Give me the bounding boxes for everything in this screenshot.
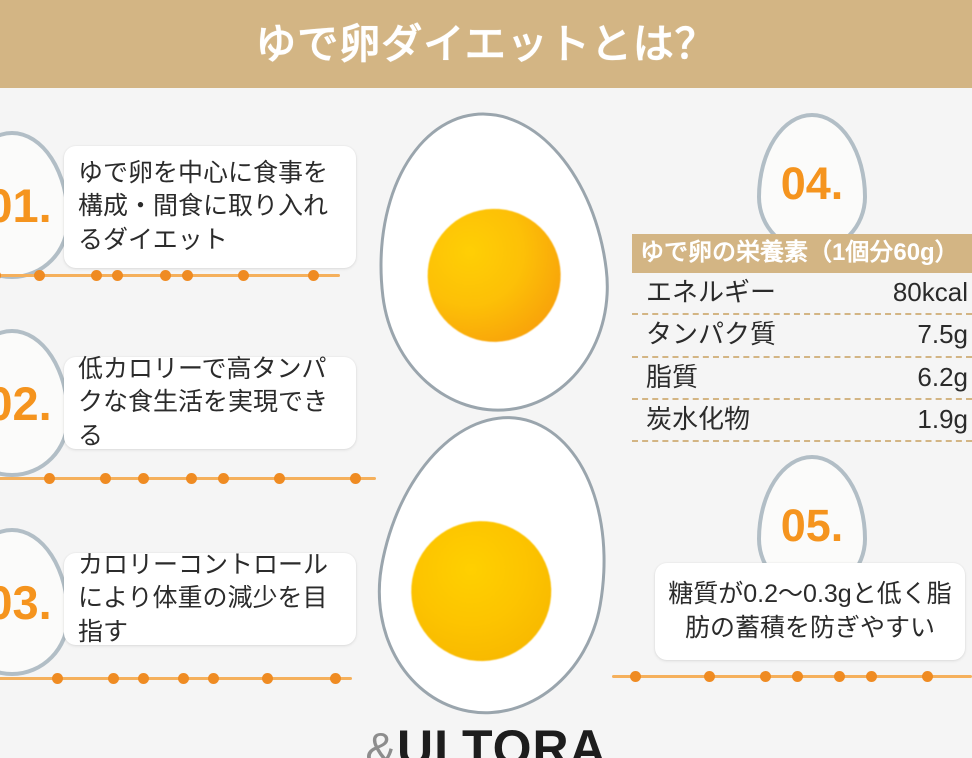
point-card-01: ゆで卵を中心に食事を構成・間食に取り入れるダイエット [64, 146, 356, 268]
divider-dot [91, 270, 102, 281]
divider-dot [834, 671, 845, 682]
nutrient-label: 炭水化物 [646, 403, 750, 436]
divider-dot [44, 473, 55, 484]
nutrition-table: ゆで卵の栄養素（1個分60g） エネルギー 80kcal タンパク質 7.5g … [632, 234, 972, 442]
point-number-02: 02. [0, 380, 52, 427]
divider-line-03 [0, 670, 352, 686]
divider-dot [100, 473, 111, 484]
nutrient-label: 脂質 [646, 361, 698, 394]
divider-dot [186, 473, 197, 484]
point-number-01: 01. [0, 182, 52, 229]
table-row: 脂質 6.2g [632, 358, 972, 400]
divider-dot [704, 671, 715, 682]
boiled-egg-illustration-bottom [358, 398, 632, 733]
divider-dot [218, 473, 229, 484]
point-text-01: ゆで卵を中心に食事を構成・間食に取り入れるダイエット [78, 157, 342, 257]
divider-line-05 [612, 668, 972, 684]
divider-dot [182, 270, 193, 281]
divider-dot [922, 671, 933, 682]
divider-dot [108, 673, 119, 684]
divider-dot [866, 671, 877, 682]
point-number-05: 05. [781, 503, 844, 548]
divider-dot [112, 270, 123, 281]
table-row: タンパク質 7.5g [632, 315, 972, 357]
divider-dot [208, 673, 219, 684]
table-row: エネルギー 80kcal [632, 273, 972, 315]
point-text-02: 低カロリーで高タンパクな食生活を実現できる [78, 353, 342, 453]
page-title: ゆで卵ダイエットとは？ [255, 24, 717, 65]
nutrition-table-title: ゆで卵の栄養素（1個分60g） [632, 234, 972, 273]
divider-dot [760, 671, 771, 682]
point-text-03: カロリーコントロールにより体重の減少を目指す [78, 549, 342, 649]
infographic-canvas: ゆで卵ダイエットとは？ 01. ゆで卵を中心に食事を構成・間食に取り入れるダイエ… [0, 0, 972, 758]
nutrient-value: 80kcal [893, 276, 968, 309]
point-card-05: 糖質が0.2〜0.3gと低く脂肪の蓄積を防ぎやすい [655, 563, 965, 660]
divider-dot [792, 671, 803, 682]
divider-dot [630, 671, 641, 682]
divider-dot [0, 270, 1, 281]
divider-dot [138, 473, 149, 484]
table-row: 炭水化物 1.9g [632, 400, 972, 442]
point-badge-04: 04. [757, 113, 867, 253]
divider-dot [178, 673, 189, 684]
nutrient-value: 7.5g [917, 318, 968, 351]
nutrient-label: エネルギー [646, 276, 776, 309]
divider-line-01 [0, 267, 340, 283]
header-bar: ゆで卵ダイエットとは？ [0, 0, 972, 88]
divider-line-02 [0, 470, 376, 486]
point-badge-03: 03. [0, 528, 70, 676]
ampersand-icon: & [365, 728, 396, 758]
divider-dot [330, 673, 341, 684]
divider-dot [34, 270, 45, 281]
nutrient-label: タンパク質 [646, 318, 776, 351]
divider-dot [52, 673, 63, 684]
point-card-03: カロリーコントロールにより体重の減少を目指す [64, 553, 356, 645]
divider-dot [274, 473, 285, 484]
point-number-03: 03. [0, 579, 52, 626]
divider-dot [160, 270, 171, 281]
point-badge-02: 02. [0, 329, 70, 477]
divider-dot [138, 673, 149, 684]
point-badge-01: 01. [0, 131, 70, 279]
divider-dot [262, 673, 273, 684]
point-card-02: 低カロリーで高タンパクな食生活を実現できる [64, 357, 356, 449]
brand-logo: & ULTORA [0, 725, 972, 758]
boiled-egg-illustration-top [361, 99, 624, 425]
point-number-04: 04. [781, 161, 844, 206]
brand-name: ULTORA [397, 725, 607, 758]
nutrient-value: 6.2g [917, 361, 968, 394]
divider-dot [308, 270, 319, 281]
point-text-05: 糖質が0.2〜0.3gと低く脂肪の蓄積を防ぎやすい [665, 578, 955, 645]
divider-dot [238, 270, 249, 281]
nutrient-value: 1.9g [917, 403, 968, 436]
divider-dot [350, 473, 361, 484]
